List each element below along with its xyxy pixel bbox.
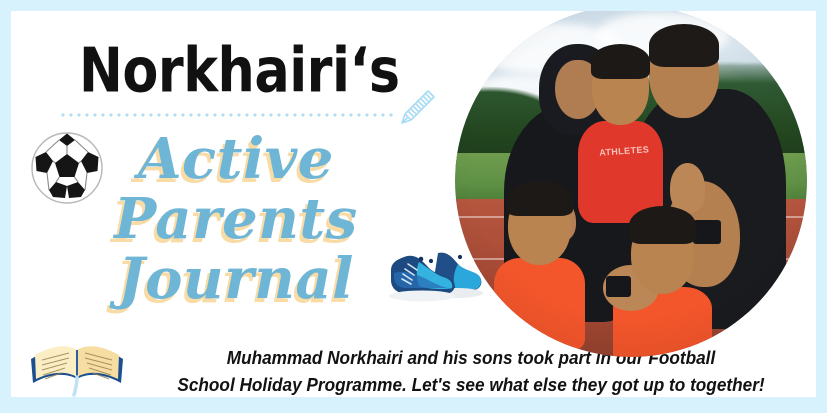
family-photo-image: ATHLETES	[455, 11, 807, 357]
photo-vignette	[455, 11, 807, 357]
caption-line-2: School Holiday Programme. Let's see what…	[155, 371, 787, 397]
page-title: Norkhairiʻs	[79, 39, 380, 103]
main-title: Active Parents Journal	[71, 129, 401, 309]
active-parents-journal-banner: Norkhairiʻs	[0, 0, 827, 413]
main-title-line-3: Journal	[71, 249, 401, 309]
main-title-line-1: Active	[71, 129, 401, 189]
family-photo: ATHLETES	[455, 11, 807, 357]
banner-inner-card: Norkhairiʻs	[11, 11, 816, 397]
main-title-line-2: Parents	[71, 189, 401, 249]
open-journal-icon	[25, 307, 131, 397]
dotted-divider	[59, 112, 397, 118]
pencil-icon	[394, 85, 440, 131]
